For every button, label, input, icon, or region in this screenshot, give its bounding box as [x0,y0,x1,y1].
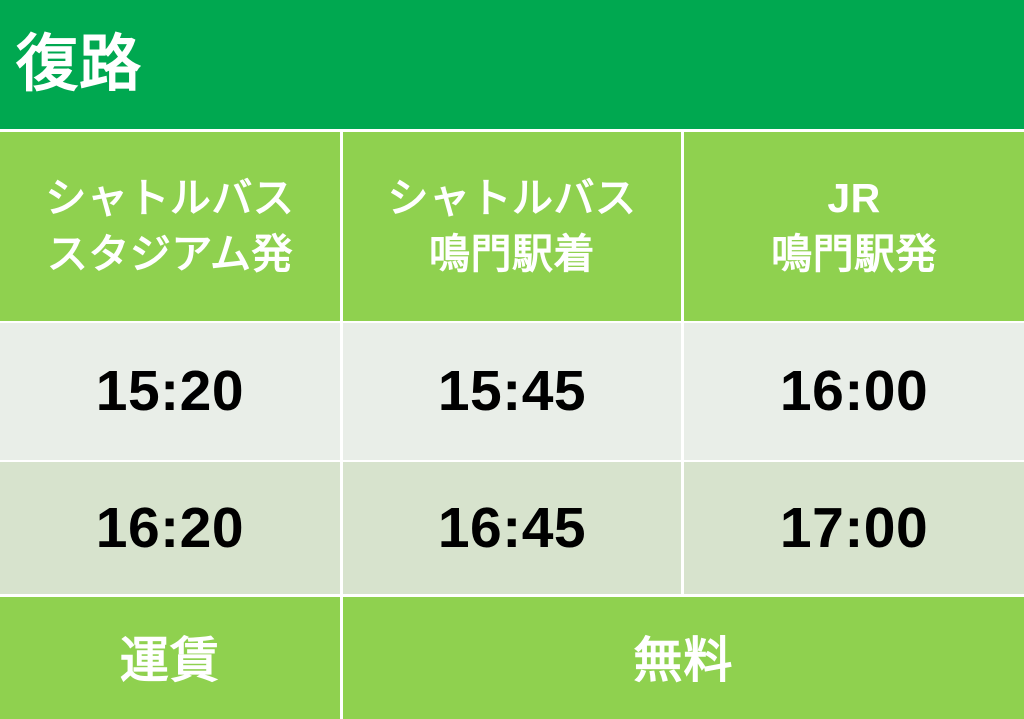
time-value: 15:20 [96,359,244,423]
time-cell-shuttle-stadium-departure: 16:20 [0,461,341,596]
column-header-line1: JR [684,171,1024,226]
fare-row: 運賃 無料 [0,596,1024,719]
fare-label: 運賃 [120,634,220,688]
column-header-line2: スタジアム発 [0,227,340,282]
timetable-body: 15:20 15:45 16:00 16:20 16:45 17:00 [0,322,1024,719]
time-value: 16:00 [780,359,928,423]
page-title-banner: 復路 [0,0,1024,129]
time-value: 15:45 [438,359,586,423]
fare-label-cell: 運賃 [0,596,341,719]
column-header-line1: シャトルバス [343,171,681,226]
fare-value-cell: 無料 [341,596,1024,719]
table-row: 15:20 15:45 16:00 [0,322,1024,461]
time-cell-shuttle-stadium-departure: 15:20 [0,322,341,461]
column-header-line2: 鳴門駅着 [343,227,681,282]
return-trip-timetable-card: 復路 シャトルバス スタジアム発 シャトルバス 鳴門駅着 JR 鳴門駅発 [0,0,1024,719]
time-value: 16:20 [96,496,244,560]
time-cell-jr-naruto-departure: 16:00 [683,322,1024,461]
page-title: 復路 [16,34,142,96]
time-cell-shuttle-naruto-arrival: 16:45 [341,461,682,596]
column-header-shuttle-stadium-departure: シャトルバス スタジアム発 [0,132,341,322]
fare-value: 無料 [633,634,733,688]
time-cell-jr-naruto-departure: 17:00 [683,461,1024,596]
column-header-shuttle-naruto-arrival: シャトルバス 鳴門駅着 [341,132,682,322]
column-header-jr-naruto-departure: JR 鳴門駅発 [683,132,1024,322]
time-cell-shuttle-naruto-arrival: 15:45 [341,322,682,461]
table-row: 16:20 16:45 17:00 [0,461,1024,596]
column-header-line1: シャトルバス [0,171,340,226]
timetable-header: シャトルバス スタジアム発 シャトルバス 鳴門駅着 JR 鳴門駅発 [0,132,1024,322]
timetable: シャトルバス スタジアム発 シャトルバス 鳴門駅着 JR 鳴門駅発 15:20 [0,132,1024,719]
time-value: 16:45 [438,496,586,560]
header-row: シャトルバス スタジアム発 シャトルバス 鳴門駅着 JR 鳴門駅発 [0,132,1024,322]
column-header-line2: 鳴門駅発 [684,227,1024,282]
time-value: 17:00 [780,496,928,560]
